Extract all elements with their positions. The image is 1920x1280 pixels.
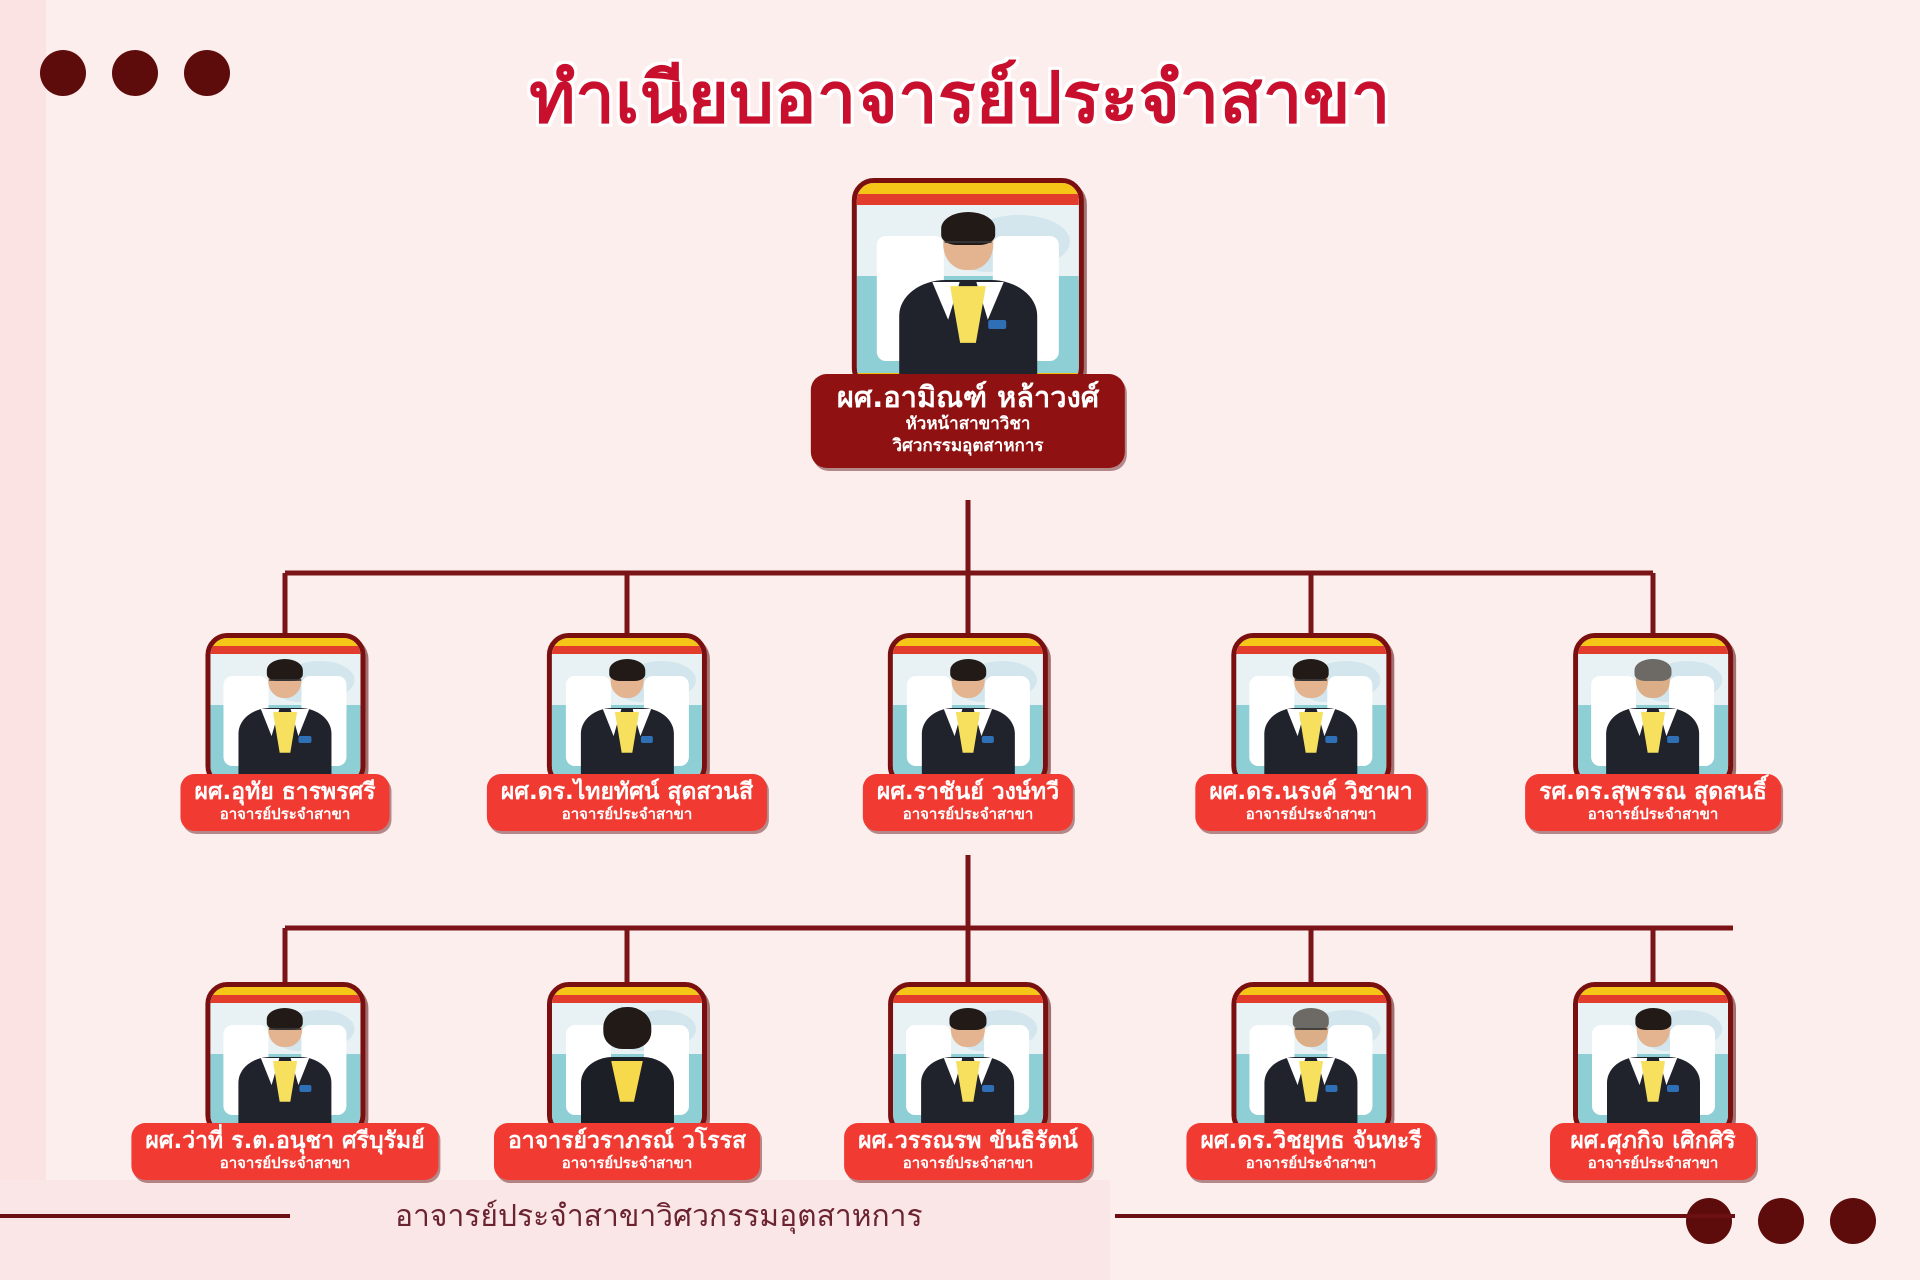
person-name: ผศ.ดร.นรงค์ วิชาผา [1209,779,1412,805]
avatar [852,178,1084,390]
background-accent-left [0,0,46,1280]
page-title: ทำเนียบอาจารย์ประจำสาขา [0,42,1920,153]
avatar [205,633,365,788]
person-name: ผศ.อุทัย ธารพรศรี [194,779,375,805]
person-name: อาจารย์วราภรณ์ วโรรส [508,1128,746,1154]
person-role: อาจารย์ประจำสาขา [1564,1154,1742,1173]
dot-icon [1758,1198,1804,1244]
person-name: รศ.ดร.สุพรรณ สุดสนธิ์ [1539,779,1767,805]
footer-divider-right [1115,1214,1735,1218]
avatar [1573,633,1733,788]
person-role: อาจารย์ประจำสาขา [1209,805,1412,824]
org-chart-poster: ทำเนียบอาจารย์ประจำสาขา [0,0,1920,1280]
status-badge: ผศ.อุทัย ธารพรศรี อาจารย์ประจำสาขา [180,774,389,831]
person-name: ผศ.ดร.วิชยุทธ จันทะรี [1200,1128,1421,1154]
person-role-line1: หัวหน้าสาขาวิชา [837,414,1099,435]
avatar [888,633,1048,788]
avatar [547,982,707,1137]
status-badge: ผศ.ว่าที่ ร.ต.อนุชา ศรีบุรัมย์ อาจารย์ปร… [131,1123,438,1180]
person-name: ผศ.ราชันย์ วงษ์ทวี [877,779,1059,805]
status-badge: ผศ.วรรณรพ ขันธิรัตน์ อาจารย์ประจำสาขา [844,1123,1092,1180]
status-badge: ผศ.อามิณฑ์ หล้าวงศ์ หัวหน้าสาขาวิชา วิศว… [811,374,1125,468]
person-name: ผศ.อามิณฑ์ หล้าวงศ์ [837,381,1099,414]
avatar [547,633,707,788]
avatar [1573,982,1733,1137]
person-role: อาจารย์ประจำสาขา [501,805,753,824]
person-role: อาจารย์ประจำสาขา [194,805,375,824]
status-badge: ผศ.ดร.นรงค์ วิชาผา อาจารย์ประจำสาขา [1195,774,1426,831]
person-role: อาจารย์ประจำสาขา [877,805,1059,824]
person-role: อาจารย์ประจำสาขา [858,1154,1078,1173]
status-badge: อาจารย์วราภรณ์ วโรรส อาจารย์ประจำสาขา [494,1123,760,1180]
avatar [1231,982,1391,1137]
person-name: ผศ.ดร.ไทยทัศน์ สุดสวนสี [501,779,753,805]
status-badge: ผศ.ศุภกิจ เศิกศิริ อาจารย์ประจำสาขา [1550,1123,1756,1180]
person-role: อาจารย์ประจำสาขา [1200,1154,1421,1173]
dot-icon [1830,1198,1876,1244]
footer-divider-left [0,1214,290,1218]
person-role-line2: วิศวกรรมอุตสาหการ [837,436,1099,457]
avatar [888,982,1048,1137]
avatar [205,982,365,1137]
person-role: อาจารย์ประจำสาขา [508,1154,746,1173]
footer-caption: อาจารย์ประจำสาขาวิศวกรรมอุตสาหการ [395,1193,923,1240]
dot-icon [1686,1198,1732,1244]
avatar [1231,633,1391,788]
person-name: ผศ.วรรณรพ ขันธิรัตน์ [858,1128,1078,1154]
person-name: ผศ.ศุภกิจ เศิกศิริ [1564,1128,1742,1154]
status-badge: ผศ.ดร.ไทยทัศน์ สุดสวนสี อาจารย์ประจำสาขา [487,774,767,831]
status-badge: รศ.ดร.สุพรรณ สุดสนธิ์ อาจารย์ประจำสาขา [1525,774,1781,831]
person-name: ผศ.ว่าที่ ร.ต.อนุชา ศรีบุรัมย์ [145,1128,424,1154]
person-role: อาจารย์ประจำสาขา [1539,805,1767,824]
status-badge: ผศ.ราชันย์ วงษ์ทวี อาจารย์ประจำสาขา [863,774,1073,831]
decorative-dots-bottom-right [1686,1198,1876,1244]
person-role: อาจารย์ประจำสาขา [145,1154,424,1173]
status-badge: ผศ.ดร.วิชยุทธ จันทะรี อาจารย์ประจำสาขา [1186,1123,1435,1180]
